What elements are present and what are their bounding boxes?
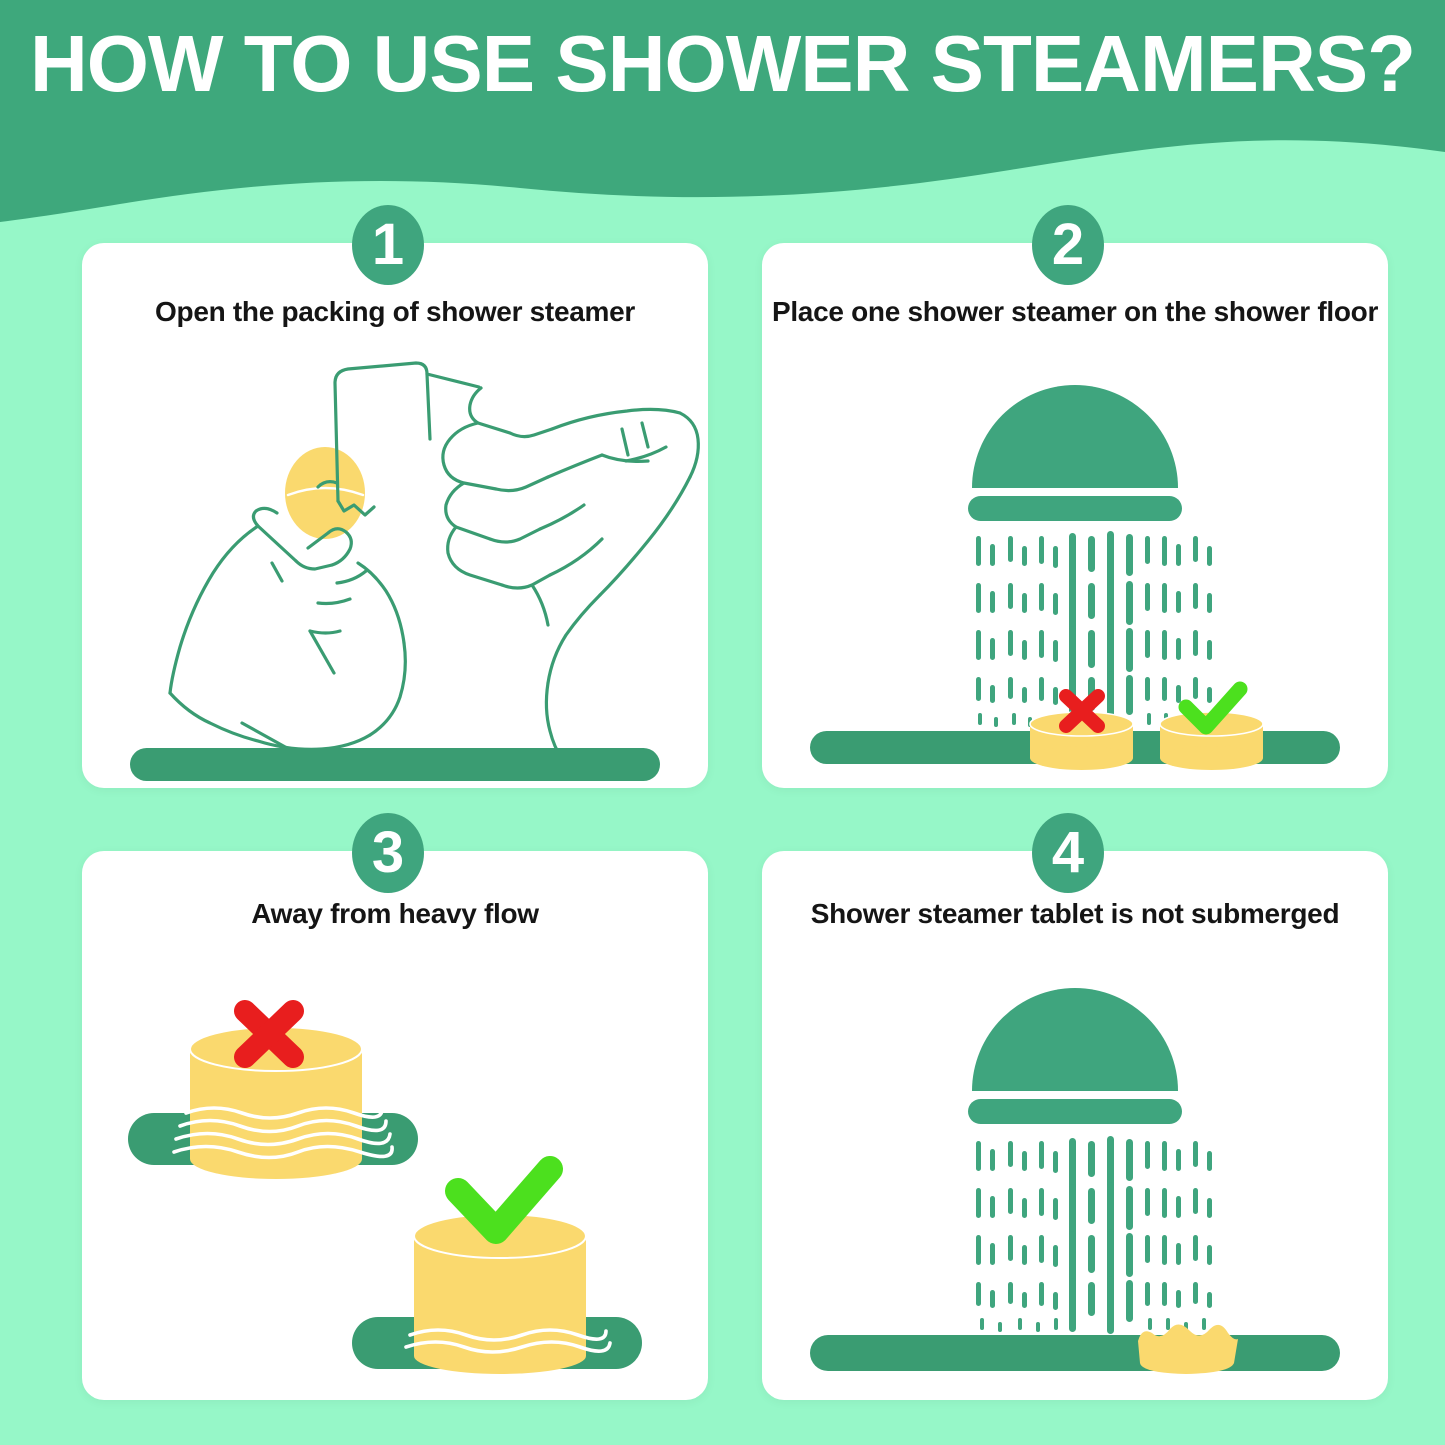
step-3-illustration xyxy=(82,851,708,1400)
step-card-1: Open the packing of shower steamer xyxy=(82,243,708,788)
shower-head-icon xyxy=(968,988,1182,1124)
step-2-illustration xyxy=(762,243,1388,788)
steps-grid: Open the packing of shower steamer xyxy=(0,0,1445,1445)
step-card-4: Shower steamer tablet is not submerged xyxy=(762,851,1388,1400)
step-number-badge-1: 1 xyxy=(352,205,424,285)
water-stream-icon xyxy=(976,1136,1212,1334)
shower-floor-bar-icon xyxy=(810,1335,1340,1371)
step-card-2: Place one shower steamer on the shower f… xyxy=(762,243,1388,788)
shower-floor-bar-icon xyxy=(130,748,660,781)
hands-opening-package-icon xyxy=(170,363,698,759)
step-number-badge-2: 2 xyxy=(1032,205,1104,285)
shower-head-icon xyxy=(968,385,1182,521)
step-4-illustration xyxy=(762,851,1388,1400)
dissolving-tablet-icon xyxy=(1138,1324,1238,1374)
step-card-3: Away from heavy flow xyxy=(82,851,708,1400)
step-1-illustration xyxy=(82,243,708,788)
step-number-badge-4: 4 xyxy=(1032,813,1104,893)
step-number-badge-3: 3 xyxy=(352,813,424,893)
